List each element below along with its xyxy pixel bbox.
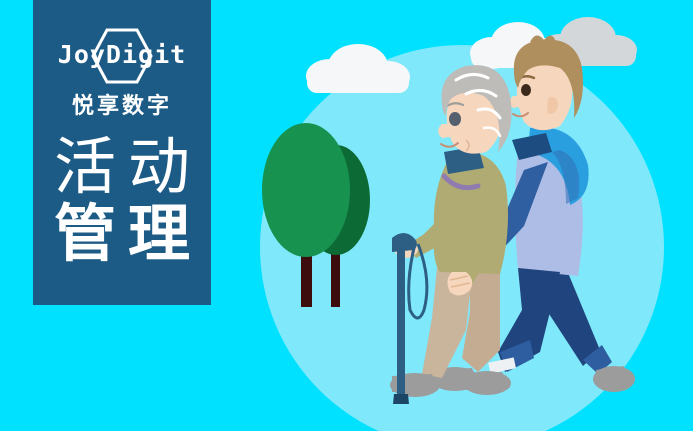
page-title-line1: 活动 [33,136,211,199]
cane-tip [393,394,409,404]
page-title-line2: 管理 [33,203,211,266]
brand-name: JoyDigit [33,40,211,69]
brand-name-cn: 悦享数字 [33,88,211,120]
helper-eye [521,84,531,96]
brand-logo: JoyDigit [33,28,211,84]
page-title: 活动 管理 [33,136,211,266]
elder-eye [449,112,461,126]
brand-panel: JoyDigit 悦享数字 活动 管理 [33,0,211,305]
poster-canvas: JoyDigit 悦享数字 活动 管理 [0,0,693,431]
